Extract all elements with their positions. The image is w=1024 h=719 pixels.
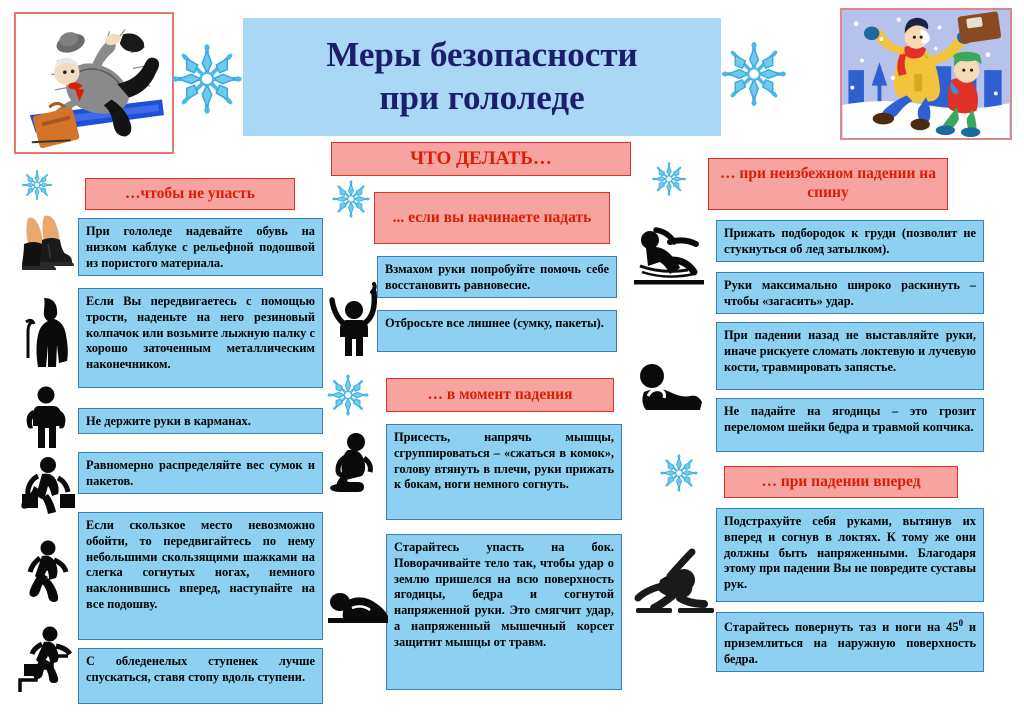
list-item: Не падайте на ягодицы – это грозит перел… xyxy=(716,398,984,452)
list-item-forward-fall-angle: Старайтесь повернуть таз и ноги на 450 и… xyxy=(716,612,984,672)
list-item: Руки максимально широко раскинуть – чтоб… xyxy=(716,272,984,314)
snowflake-icon xyxy=(330,178,372,220)
person-crouching-icon xyxy=(326,430,382,497)
man-slipping-on-ice-illustration xyxy=(14,12,174,154)
person-carrying-bags-icon xyxy=(18,456,76,521)
list-item: Присесть, напрячь мышцы, сгруппироваться… xyxy=(386,424,622,520)
list-item: При падении назад не выставляйте руки, и… xyxy=(716,322,984,390)
list-item: Отбросьте все лишнее (сумку, пакеты). xyxy=(377,310,617,352)
list-item: При гололеде надевайте обувь на низком к… xyxy=(78,218,323,276)
snowflake-icon xyxy=(168,40,246,118)
list-item: Взмахом руки попробуйте помочь себе восс… xyxy=(377,256,617,298)
person-slipping-backward-icon xyxy=(632,226,706,293)
boots-photo-icon xyxy=(18,214,76,281)
page-title: Меры безопасности при гололеде xyxy=(243,18,721,136)
elderly-person-with-cane-icon xyxy=(20,296,74,373)
person-arms-raised-icon xyxy=(328,282,380,363)
header-moment-of-fall: … в момент падения xyxy=(386,378,614,412)
person-descending-stairs-icon xyxy=(16,624,78,699)
header-what-to-do: ЧТО ДЕЛАТЬ… xyxy=(331,142,631,176)
person-falling-forward-icon xyxy=(634,546,716,623)
header-back-fall: … при неизбежном падении на спину xyxy=(708,158,948,210)
snowflake-icon xyxy=(658,452,700,494)
page-title-line2: при гололеде xyxy=(326,77,637,120)
list-item: Равномерно распределяйте вес сумок и пак… xyxy=(78,452,323,494)
header-forward-fall: … при падении вперед xyxy=(724,466,958,498)
list-item: Старайтесь упасть на бок. Поворачивайте … xyxy=(386,534,622,690)
list-item: С обледенелых ступенек лучше спускаться,… xyxy=(78,648,323,704)
snowflake-icon xyxy=(20,168,54,202)
list-item: Если Вы передвигаетесь с помощью трости,… xyxy=(78,288,323,388)
snowflake-icon xyxy=(650,160,688,198)
list-item: Прижать подбородок к груди (позволит не … xyxy=(716,220,984,262)
person-sitting-on-ground-icon xyxy=(636,362,706,417)
snowflake-icon xyxy=(718,38,790,110)
poster-root: Меры безопасности при гололеде xyxy=(0,0,1024,719)
person-walking-icon xyxy=(20,540,72,607)
woman-and-child-slipping-illustration xyxy=(840,8,1012,140)
snowflake-icon xyxy=(325,372,371,418)
list-item: Если скользкое место невозможно обойти, … xyxy=(78,512,323,640)
person-hands-in-pockets-icon xyxy=(20,386,72,453)
forward-fall-text-part1: Старайтесь повернуть таз и ноги на 45 xyxy=(724,620,959,634)
person-lying-on-side-icon xyxy=(326,578,390,631)
header-if-starting-to-fall: ... если вы начинаете падать xyxy=(374,192,610,244)
page-title-line1: Меры безопасности xyxy=(326,34,637,77)
header-not-to-fall: …чтобы не упасть xyxy=(85,178,295,210)
list-item: Не держите руки в карманах. xyxy=(78,408,323,434)
list-item: Подстрахуйте себя руками, вытянув их впе… xyxy=(716,508,984,602)
